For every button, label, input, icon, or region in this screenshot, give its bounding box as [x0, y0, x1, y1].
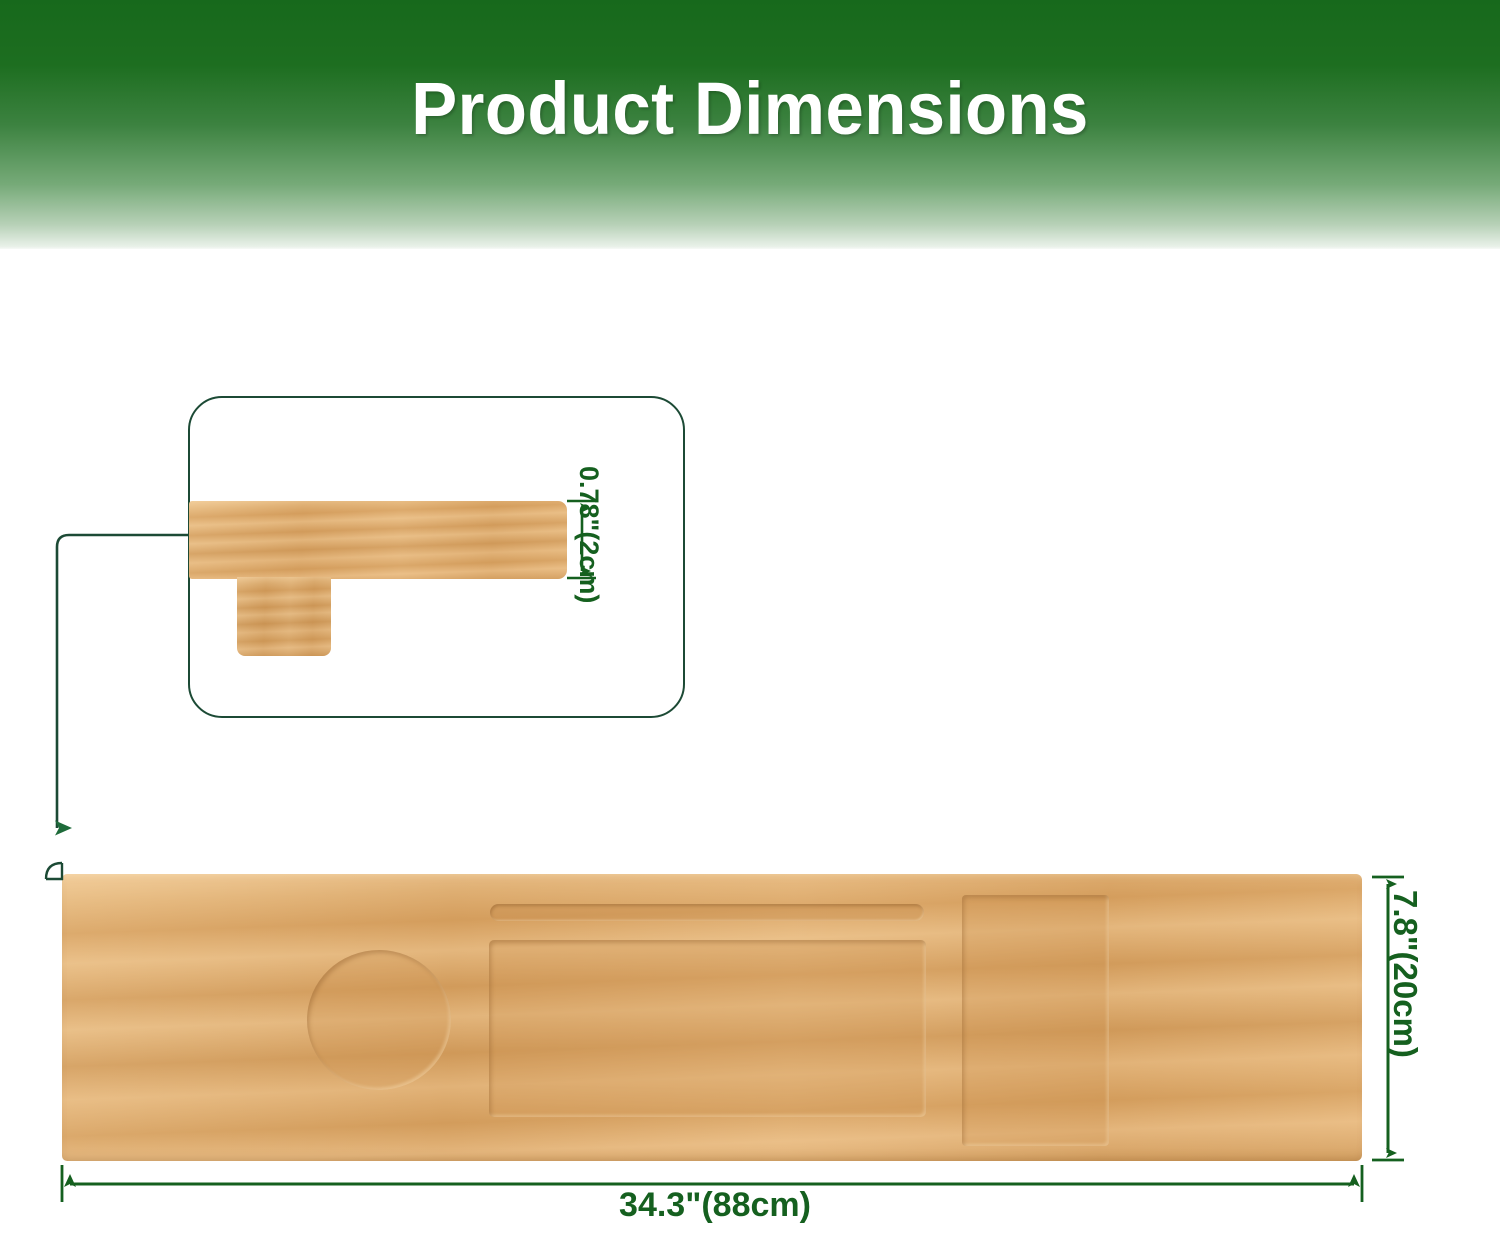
phone-recess — [962, 895, 1109, 1146]
leader-line — [57, 535, 189, 828]
length-dimension-label: 34.3"(88cm) — [0, 1186, 1430, 1225]
tablet-slot-recess — [490, 904, 924, 921]
cup-recess — [307, 950, 451, 1090]
corner-radius-marker — [46, 863, 63, 880]
depth-dimension-label: 7.8"(20cm) — [1386, 890, 1424, 1058]
page-title: Product Dimensions — [53, 72, 1448, 146]
side-view-support-leg — [237, 577, 331, 656]
tray-recess — [489, 940, 926, 1117]
header-banner: Product Dimensions — [0, 0, 1500, 249]
side-view-board — [189, 501, 567, 579]
thickness-dimension-label: 0.78"(2cm) — [573, 466, 604, 603]
